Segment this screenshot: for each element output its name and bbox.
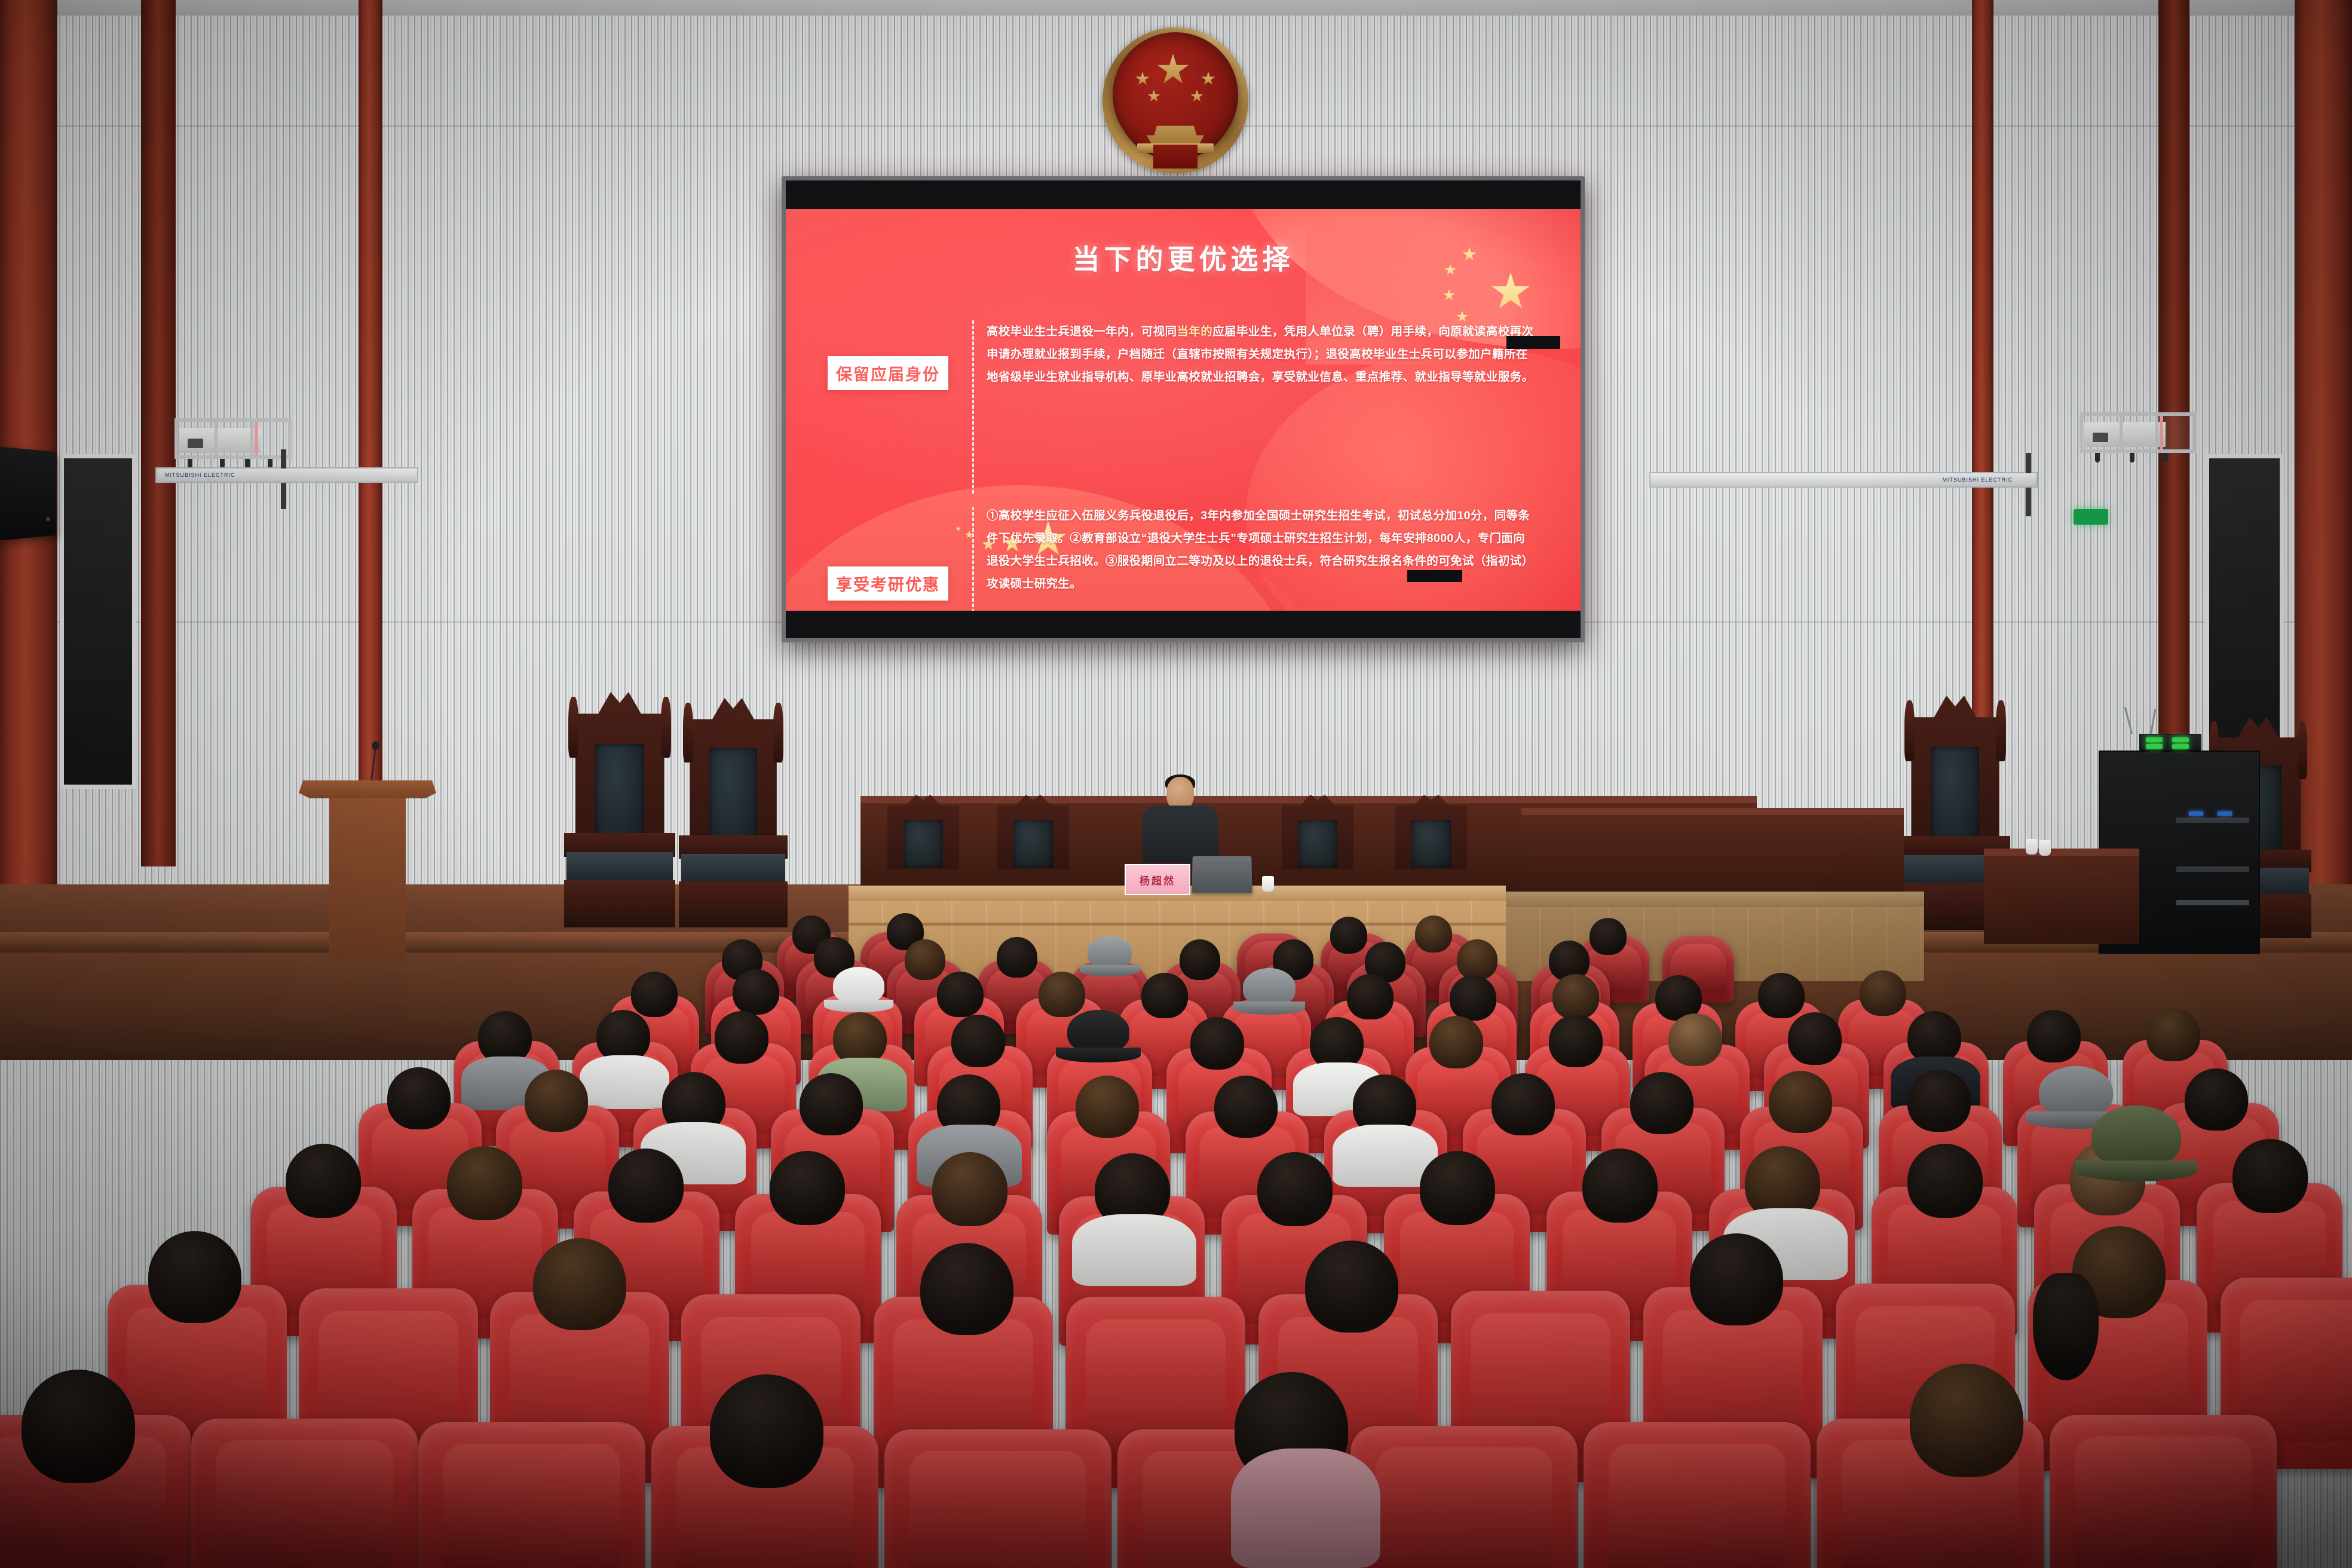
audience-head <box>1907 1011 1961 1064</box>
speaker-led <box>46 517 50 521</box>
cap-brim <box>2075 1160 2197 1181</box>
audience-head <box>1305 1241 1398 1333</box>
audience-head <box>1907 1070 1971 1132</box>
audience-head <box>1429 1016 1483 1068</box>
dais-back-panel-right <box>1521 808 1904 898</box>
audience-head <box>2232 1139 2308 1213</box>
projector-mount <box>2163 453 2168 463</box>
audience-head <box>1549 1015 1603 1067</box>
chair-backpad <box>1298 820 1337 868</box>
chair-finial <box>568 697 578 758</box>
audience-head <box>1590 918 1627 955</box>
laptop-computer[interactable] <box>1192 856 1252 893</box>
paper-cup <box>1262 876 1274 892</box>
cap-brim <box>1056 1048 1140 1062</box>
audience-head <box>1076 1076 1139 1138</box>
audience-cap <box>833 967 884 1004</box>
chair-finial <box>683 703 693 762</box>
name-card: 杨超然 <box>1125 864 1190 895</box>
screen-letterbox-top <box>786 180 1581 209</box>
audience-head <box>525 1070 588 1132</box>
audience-head <box>905 939 945 980</box>
chair-finial <box>773 703 783 762</box>
audience-head <box>1630 1072 1693 1134</box>
speaker-podium[interactable] <box>299 780 436 960</box>
audience-chair[interactable] <box>191 1419 418 1568</box>
presenter-torso <box>1143 806 1218 863</box>
audience-chair[interactable] <box>418 1422 645 1568</box>
audience-cap <box>2039 1066 2113 1117</box>
ceremonial-chair[interactable] <box>679 698 788 927</box>
audience-head <box>1907 1144 1983 1218</box>
audience-head <box>2146 1009 2200 1061</box>
rack-shelf <box>2176 900 2249 905</box>
audience-head <box>1141 973 1188 1018</box>
wall-pilaster-left-2 <box>141 0 176 866</box>
audience-head <box>937 972 984 1017</box>
audience-head <box>770 1151 845 1225</box>
audience-cap <box>2091 1105 2181 1168</box>
audience-head <box>387 1067 451 1129</box>
rack-shelf <box>2176 817 2249 823</box>
slide-dead-pixel-band <box>1506 336 1560 349</box>
slide-chip-2: 享受考研优惠 <box>828 566 948 601</box>
audience-head <box>833 1012 887 1065</box>
audience-head <box>1330 917 1367 954</box>
paper-cup <box>2026 839 2038 855</box>
audience-head <box>1769 1071 1832 1133</box>
chair-backpad <box>709 748 757 844</box>
presentation-slide: 当下的更优选择 保留应届身份 高校毕业生士兵退役一年内，可视同当年的应届毕业生，… <box>786 209 1581 611</box>
audience-head <box>286 1144 361 1218</box>
auditorium-scene: MITSUBISHI ELECTRIC MITSUBISHI ELECTRIC <box>0 0 2352 1568</box>
screen-letterbox-bottom <box>786 611 1581 638</box>
rostrum-top-surface <box>1506 892 1924 907</box>
receiver-display-led <box>2172 737 2189 742</box>
audience-chair[interactable] <box>2050 1415 2277 1568</box>
audience-head <box>1450 975 1496 1021</box>
tech-desk-lip <box>1984 849 2139 856</box>
wireless-mic-receiver <box>2139 734 2201 751</box>
projector-cage <box>174 418 292 459</box>
star-icon <box>1443 289 1455 301</box>
projector-mount <box>2130 453 2134 463</box>
chair-skirt <box>679 881 788 927</box>
ac-duct-left: MITSUBISHI ELECTRIC <box>155 467 418 483</box>
audience-head <box>1190 1017 1244 1070</box>
emblem-drape <box>1153 145 1198 169</box>
wall-pilaster-left-3 <box>359 0 382 855</box>
exit-sign <box>2074 509 2108 525</box>
slide-divider-1 <box>972 320 974 494</box>
ac-brand-label: MITSUBISHI ELECTRIC <box>1942 477 2013 483</box>
audience-head <box>1492 1073 1555 1135</box>
chair-backpad <box>904 820 943 868</box>
audience-head <box>1420 1151 1495 1225</box>
slide-highlight-1: 当年的 <box>1177 325 1212 338</box>
ac-duct-right: MITSUBISHI ELECTRIC <box>1649 472 2038 488</box>
ac-mount-stem <box>2026 453 2031 473</box>
side-door-left[interactable] <box>60 454 136 789</box>
projector-left <box>174 418 292 459</box>
audience-head <box>1788 1012 1842 1065</box>
audience-head <box>148 1231 241 1323</box>
audience-ponytail <box>2033 1273 2099 1380</box>
audience-head <box>800 1073 863 1135</box>
audience-head <box>951 1015 1005 1067</box>
slide-dead-pixel-band <box>1407 570 1462 582</box>
ac-mount-stem <box>281 483 286 509</box>
audience-head <box>733 969 779 1015</box>
receiver-display-led <box>2146 744 2163 749</box>
audience-head <box>1457 939 1497 980</box>
cap-brim <box>1233 1002 1305 1015</box>
cap-brim <box>824 1000 894 1012</box>
chair-skirt <box>564 880 675 927</box>
receiver-display-led <box>2146 737 2163 742</box>
audience-head <box>1347 974 1394 1019</box>
projector-mount <box>2095 453 2100 463</box>
slide-body-1: 高校毕业生士兵退役一年内，可视同当年的应届毕业生，凭用人单位录（聘）用手续，向原… <box>987 320 1535 388</box>
audience-head <box>2027 1010 2081 1062</box>
audience-head <box>1860 970 1906 1016</box>
audience-head <box>1758 973 1805 1018</box>
national-emblem <box>1095 5 1256 165</box>
slide-divider-2 <box>972 507 974 611</box>
audience-head <box>478 1011 532 1064</box>
rack-device-led <box>2218 811 2232 816</box>
audience-head <box>447 1146 522 1220</box>
ceremonial-chair[interactable] <box>564 692 675 927</box>
audience-head <box>1310 1017 1364 1070</box>
audience-head <box>1415 915 1452 953</box>
projector-right <box>2080 412 2197 453</box>
audience-shoulders <box>580 1055 669 1109</box>
laptop-lid <box>1192 856 1252 893</box>
slide-chip-1: 保留应届身份 <box>828 356 948 390</box>
chair-finial <box>2298 721 2307 779</box>
audience-head <box>932 1152 1007 1226</box>
paper-cup <box>2039 840 2051 856</box>
dais-lip <box>1521 808 1904 815</box>
chair-backpad <box>1411 820 1451 868</box>
audience-head <box>997 937 1037 978</box>
audience-head <box>1910 1364 2023 1477</box>
audience-head <box>1257 1152 1333 1226</box>
rack-device-led <box>2189 811 2203 816</box>
audience-chair[interactable] <box>884 1429 1111 1568</box>
slide-title: 当下的更优选择 <box>786 238 1581 277</box>
audience-head <box>1039 972 1085 1017</box>
projector-cage <box>2080 412 2197 453</box>
chair-finial <box>661 697 671 758</box>
audience-head <box>596 1010 650 1062</box>
audience-head <box>1690 1233 1783 1325</box>
audience-cap <box>1088 936 1132 969</box>
audience-shoulders <box>1231 1448 1380 1568</box>
led-display-screen: 当下的更优选择 保留应届身份 高校毕业生士兵退役一年内，可视同当年的应届毕业生，… <box>782 176 1585 642</box>
audience-chair[interactable] <box>1350 1426 1578 1568</box>
audience-shoulders <box>1072 1214 1196 1286</box>
audience-head <box>715 1011 768 1064</box>
audience-head <box>1668 1013 1722 1066</box>
ac-mount-stem <box>281 449 286 468</box>
star-icon <box>955 526 961 531</box>
rostrum-groove <box>849 923 1506 926</box>
star-icon <box>1491 272 1530 312</box>
rack-shelf <box>2176 866 2249 872</box>
audience-head <box>2185 1068 2248 1131</box>
chair-finial <box>1996 700 2006 761</box>
ac-brand-label: MITSUBISHI ELECTRIC <box>165 472 235 478</box>
audience-head <box>710 1374 823 1488</box>
audience-cap <box>1067 1010 1129 1053</box>
audience-head <box>533 1238 626 1330</box>
chair-backpad <box>1013 820 1053 868</box>
chair-backpad <box>595 744 644 843</box>
audience-chair[interactable] <box>1584 1422 1811 1568</box>
audience-head <box>1582 1149 1658 1223</box>
wall-speaker-left <box>0 446 56 541</box>
audience-head <box>1180 939 1220 980</box>
audience-head <box>631 972 678 1017</box>
audience-head <box>920 1243 1013 1335</box>
audience-cap <box>1243 968 1296 1006</box>
podium-column <box>329 798 406 960</box>
podium-top <box>299 780 436 798</box>
ac-mount-stem <box>2026 488 2031 516</box>
tech-desk <box>1984 849 2139 944</box>
audience-head <box>608 1149 684 1223</box>
chair-finial <box>1904 700 1915 761</box>
audience-head <box>22 1370 135 1483</box>
receiver-display-led <box>2172 744 2189 749</box>
chair-backpad <box>1931 747 1980 846</box>
audience-head <box>1214 1076 1278 1138</box>
audience-head <box>1552 974 1599 1019</box>
